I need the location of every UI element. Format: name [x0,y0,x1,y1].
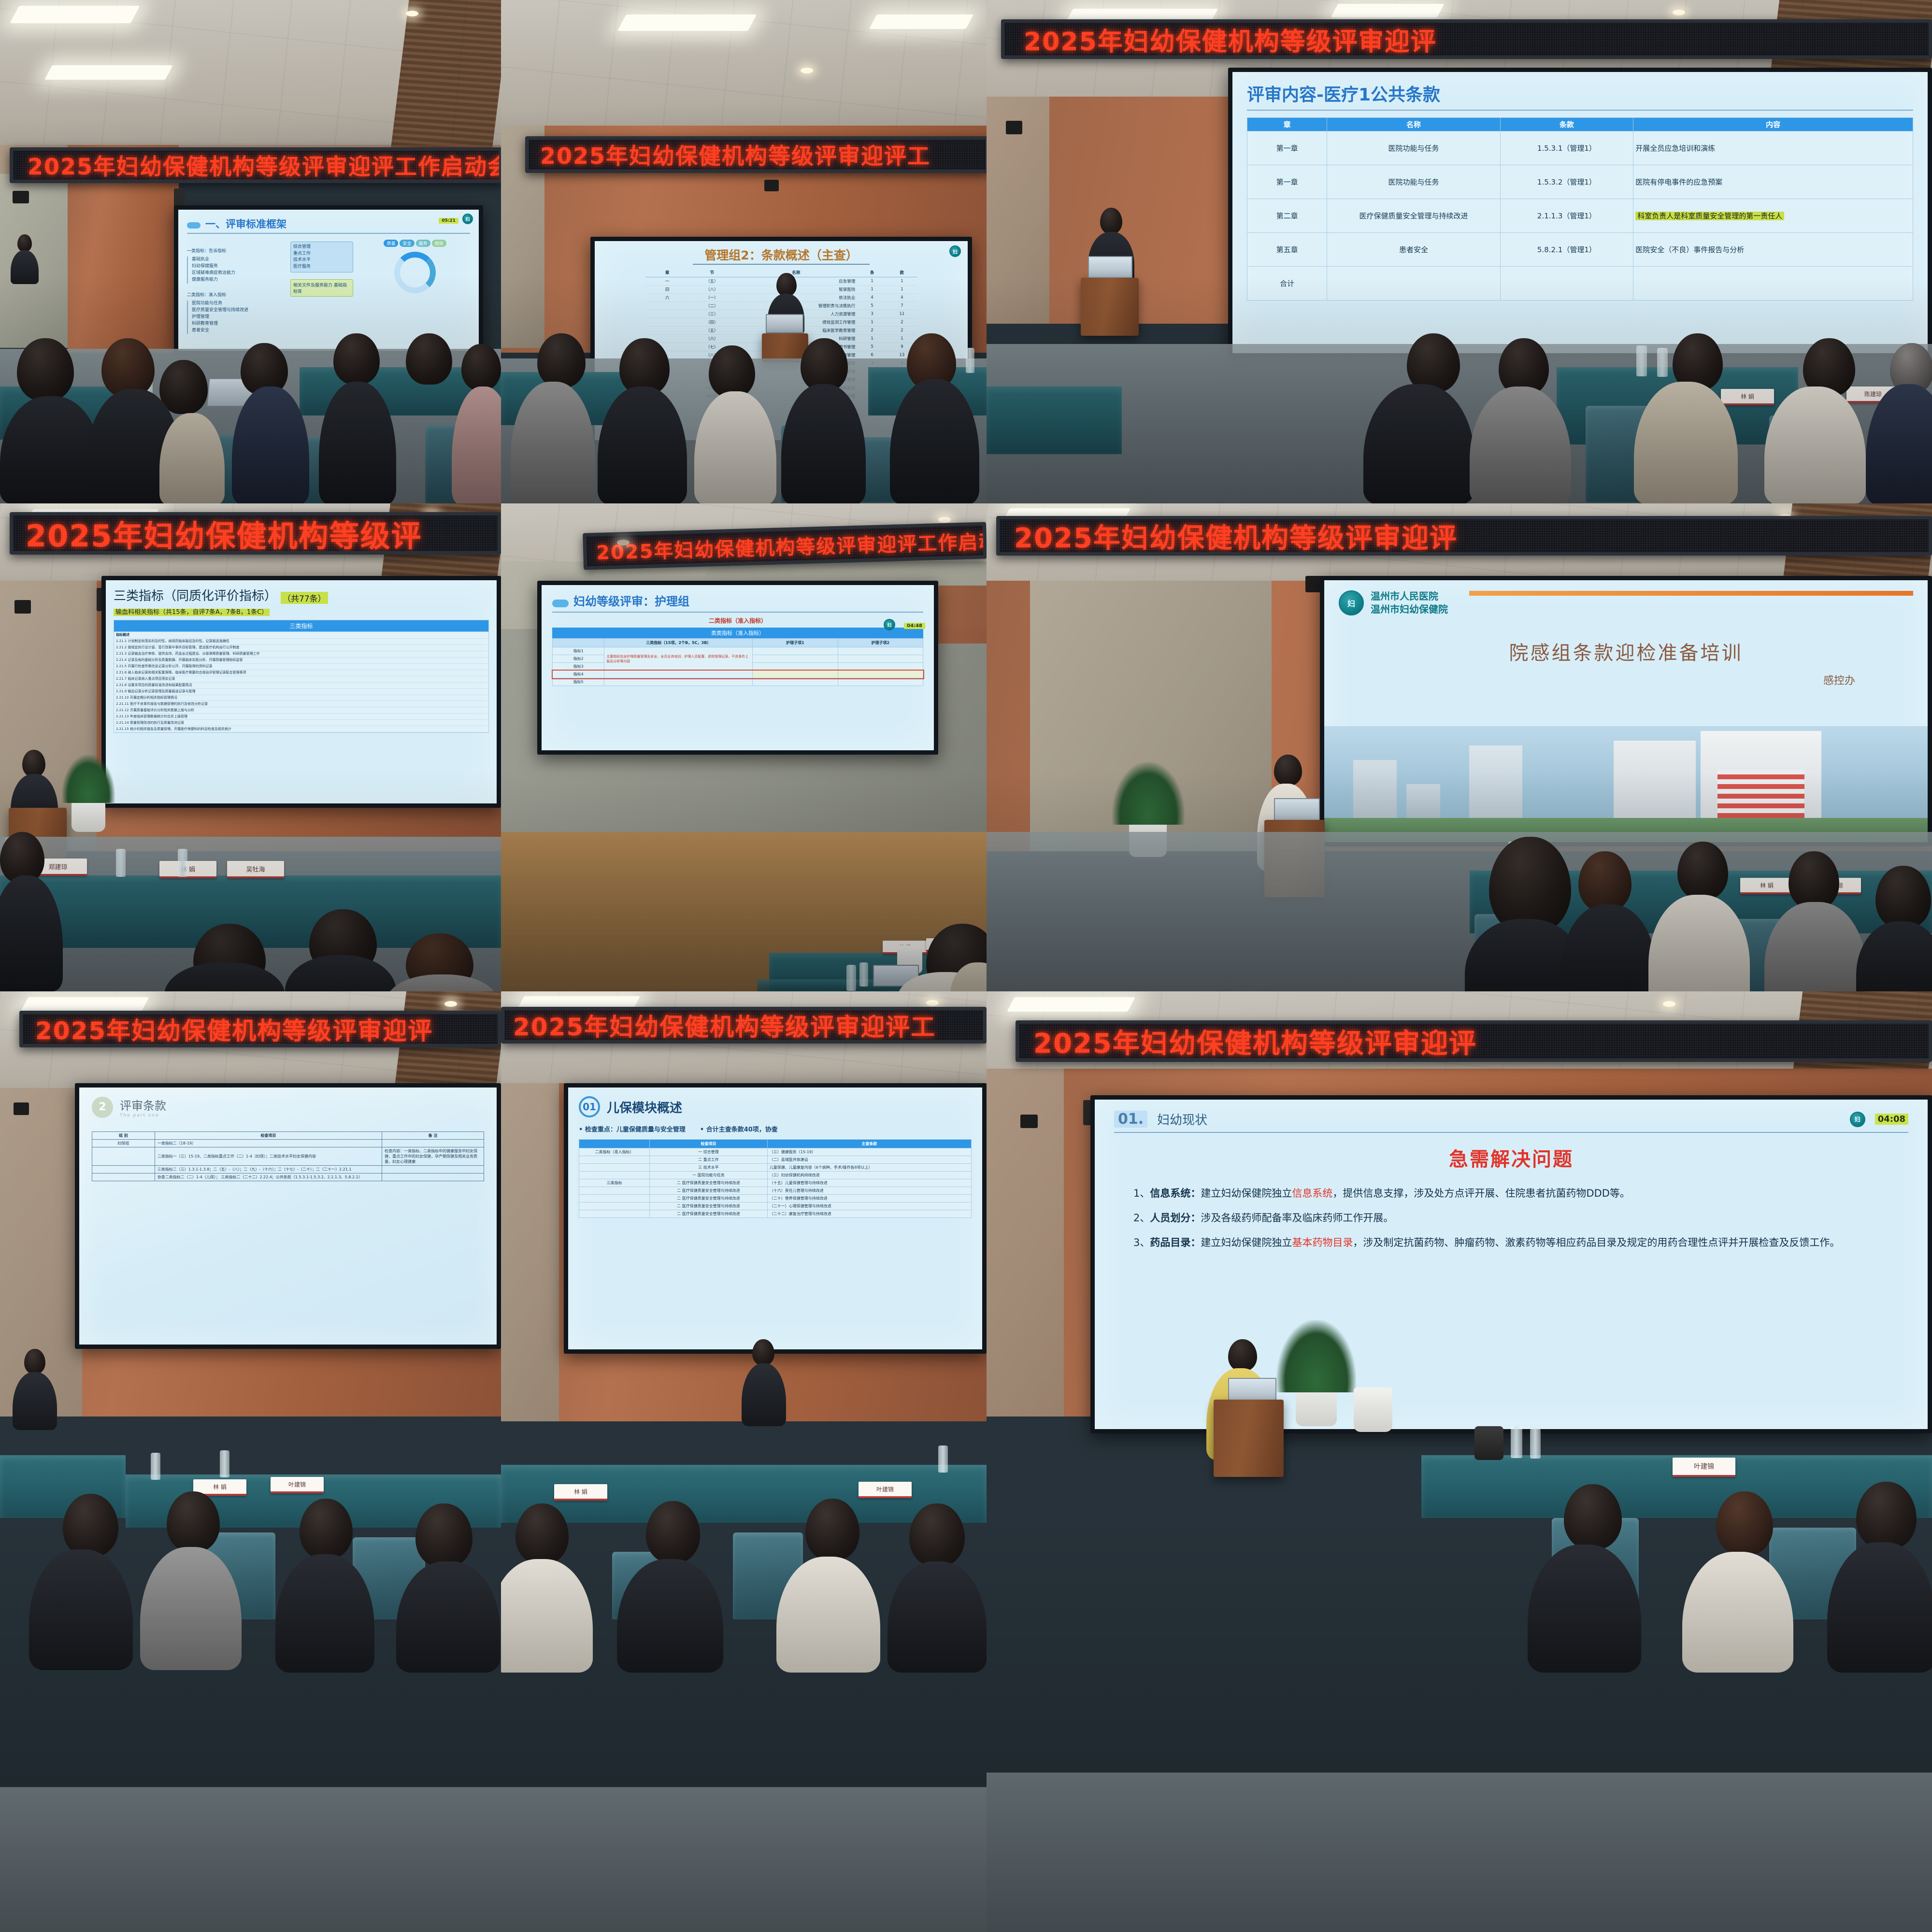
branch-label: 科研教育管理 [192,321,284,328]
slide-node-2: 二类指标：准入指标 [187,291,284,298]
table-cell: 5 [857,343,887,351]
audience-head [300,1499,353,1559]
col-header: 组 别 [92,1132,155,1140]
downlight [938,517,951,523]
audience-head [1564,1484,1622,1549]
table-cell: （一） [689,294,735,302]
col-header: 护理子项2 [838,639,923,647]
item-text: 建立妇幼保健院独立 [1201,1237,1292,1248]
item-index: 1、 [1133,1188,1150,1199]
downlight [617,540,630,545]
nameplate: 叶建锦 [1673,1458,1735,1477]
table-row: 指标1主要指标包含护理质量管理及安全、全员业务培训、护理人员配置、绩效管理记录、… [553,647,923,655]
branch-label: 技术水平 [293,257,350,264]
table-cell: 5.8.2.1（管理1） [1500,233,1633,267]
branch-label: 医院功能与任务 [192,301,284,307]
water-bottle [966,348,974,373]
presenter-laptop [766,314,803,333]
table-cell: 11 [887,310,917,318]
col-header: 内容 [1633,118,1913,131]
presenter-laptop [1088,256,1132,278]
wheel-label: 质量 [384,240,398,247]
ceiling-light [869,14,973,29]
table-cell [579,1172,650,1179]
led-banner: 2025年妇幼保健机构等级评 [10,512,501,555]
water-bottle [846,965,856,991]
projection-screen: 妇 温州市人民医院 温州市妇幼保健院 院感组条款迎检准备培训 感控办 [1320,576,1932,846]
table-cell: 医院有停电事件的应急预案 [1633,165,1913,199]
slide-content: 一、评审标准框架 一类指标：告诉指标 基础执业 妇幼保健服务 区域疑难病症救治能… [178,210,479,351]
water-bottle [1636,345,1647,376]
table-row: 第一章医院功能与任务1.5.3.2（管理1）医院有停电事件的应急预案 [1247,165,1913,199]
slide-content: 评审内容-医疗1公共条款 章 名称 条款 内容 第一章医院功能与任务1.5.3.… [1232,72,1928,353]
branch-label: 医疗服务 [293,264,350,271]
table-cell: 二 医疗保健质量安全管理与持续改进 [650,1202,768,1210]
col-header: 主查条款 [767,1140,971,1148]
led-banner: 2025年妇幼保健机构等级评审迎评 [19,1011,501,1047]
hospital-logo-icon: 妇 [949,245,961,257]
audience-head [333,333,380,385]
table-cell: 六 [645,294,689,302]
branch-label: 患者安全 [192,328,284,334]
list-item: 2.21.11 医疗不良事件报告与数据管理的执行及修改分析记录 [114,701,488,707]
slide-photo-background [1324,726,1928,842]
list-item: 2.21.4 记录及格的基础分析及质量数据、开展临床实践分析、开展质量管理指标监… [114,658,488,664]
table-cell [92,1174,155,1181]
presenter-body [11,250,39,284]
camera-icon [764,180,779,191]
table-cell: 2 [887,318,917,327]
table-cell [1327,267,1500,301]
col-header: 章 [645,268,689,277]
camera-icon [1020,1115,1038,1128]
table-cell: 合计 [1247,267,1327,301]
led-banner-text: 2025年妇幼保健机构等级评审迎评 [1000,516,1458,556]
branch-label: 医疗质量安全管理与持续改进 [192,307,284,314]
audience-head [167,1491,220,1552]
slide-title: 儿保模块概述 [607,1098,682,1116]
table-cell [645,318,689,327]
led-banner-text: 2025年妇幼保健机构等级评审迎评工 [504,1008,936,1043]
table-cell: （十六）责任儿管理与持续改进 [767,1187,971,1195]
led-banner-text: 2025年妇幼保健机构等级评 [13,512,422,555]
presenter-head [752,1339,774,1365]
col-header: 条款 [1500,118,1633,131]
slide-title: 一、评审标准框架 [205,218,286,230]
slide-subtitle: 感控办 [1339,672,1913,687]
table-cell: 1.5.3.1（管理1） [1500,131,1633,165]
table-cell: 二 医疗保健质量安全管理与持续改进 [650,1195,768,1202]
led-banner: 2025年妇幼保健机构等级评审迎评 [1001,19,1932,59]
table-cell: 指标2 [553,655,604,663]
table-cell: 患者安全 [1327,233,1500,267]
table-row: 二 医疗保健质量安全管理与持续改进（十六）责任儿管理与持续改进 [579,1187,972,1195]
podium [1081,278,1139,336]
photo-panel-middle-right[interactable]: 2025年妇幼保健机构等级评审迎评 妇 温州市人民医院 温州市妇幼保健院 院感组… [987,503,1932,991]
table-cell: 第一章 [1247,165,1327,199]
audience-table [987,386,1122,454]
table-row: 三 技术水平儿童保健、儿童康复内容（6个病种、手术/操作各8项以上） [579,1164,972,1172]
table-cell [645,302,689,310]
nameplate: 叶建锦 [271,1477,324,1493]
table-cell: 1.5.3.2（管理1） [1500,165,1633,199]
table-cell: 指标3 [553,663,604,671]
nursing-table: 三类指标（15项，2个B，5C，3B） 护理子项1 护理子项2 指标1主要指标包… [552,638,923,686]
table-cell: 三类指标 [579,1179,650,1187]
audience-head [406,333,452,385]
plant-leaves [1112,762,1185,825]
projection-screen: 妇幼等级评审：护理组 二类指标（准入指标） 类类指标（准入指标） 三类指标（15… [537,581,938,755]
slide-lower-box: 相关文件及服务能力 基础指标库 [290,279,353,297]
table-cell: 医院功能与任务 [1327,165,1500,199]
table-cell [838,647,923,655]
plant-leaves [62,755,115,803]
table-cell: 2 [887,327,917,335]
audience-head [1856,1482,1917,1549]
floor [501,1787,987,1932]
table-cell: 协查二类指标二（二）1-4（儿保）； 三类指标二（二十二）2.22.4；公共条款… [155,1174,382,1181]
podium [1214,1400,1284,1477]
presenter-head [1274,755,1302,786]
presenter-head [24,1349,45,1374]
photo-panel-middle-center[interactable]: 2025年妇幼保健机构等级评审迎评工作启动会 妇幼等级评审：护理组 二类指标（准… [501,503,987,991]
table-cell: （六） [689,335,735,343]
presenter-head [17,234,32,252]
nameplate: 林 娟 [159,861,216,878]
audience-head [17,338,74,401]
logo-line-2: 温州市妇幼保健院 [1371,603,1448,616]
projection-screen: 评审内容-医疗1公共条款 章 名称 条款 内容 第一章医院功能与任务1.5.3.… [1228,68,1932,358]
slide-bullet: • 合计主查条款40项，协查 [700,1124,778,1133]
table-cell: 1 [857,335,887,343]
table-row: 三类指标二（三）1.3.1-1.3.8；二（五）-（八）；二（九）-（十六）；二… [92,1166,484,1174]
nameplate: 吴牡海 [227,861,284,878]
table-cell: 一 综合管理 [650,1148,768,1156]
table-cell [579,1187,650,1195]
branch-label: 区域疑难病症救治能力 [192,270,284,277]
list-item: 2.21.3 记录输血治疗审核、提供支持，药品全过程建设、分级保障质量管理、科研… [114,651,488,658]
photo-panel-middle-left[interactable]: 2025年妇幼保健机构等级评 三类指标（同质化评价指标） （共77条） 输血科相… [0,503,501,991]
photo-panel-top-center[interactable]: 2025年妇幼保健机构等级评审迎评工 管理组2：条款概述（主查） 章 节 名称 … [501,0,987,503]
nameplate: 林 娟 [1721,389,1774,405]
timer-value: 04:48 [904,623,925,629]
slide-content: 2 评审条款 The part one 组 别 检查项目 备 注 妇保组一类指标… [79,1088,497,1345]
table-header-row: 章 名称 条款 内容 [1247,118,1913,131]
table-cell [753,647,838,655]
table-row: 协查二类指标二（二）1-4（儿保）； 三类指标二（二十二）2.22.4；公共条款… [92,1174,484,1181]
table-cell: 儿童保健、儿童康复内容（6个病种、手术/操作各8项以上） [767,1164,971,1172]
hospital-logo-icon: 妇 [1339,590,1364,615]
table-row: 二 医疗保健质量安全管理与持续改进（二十一）心理保健管理与持续改进 [579,1202,972,1210]
table-cell: 二 医疗保健质量安全管理与持续改进 [650,1210,768,1218]
item-text: ，涉及制定抗菌药物、肿瘤药物、激素药物等相应药品目录及规定的用药合理性点评并开展… [1353,1237,1840,1248]
table-cell: 三 技术水平 [650,1164,768,1172]
table-cell [753,663,838,671]
table-cell: 开展全员应急培训和演练 [1633,131,1913,165]
water-bottle [1511,1426,1522,1458]
table-cell: 5 [857,302,887,310]
list-item: 2.21.8 设置本项目的质量标准改进和结果配置情况 [114,683,488,689]
water-bottle [220,1450,229,1477]
led-banner-text: 2025年妇幼保健机构等级评审迎评工 [529,139,930,171]
presenter-head [1228,1339,1257,1371]
audience-body [887,1561,987,1673]
photo-panel-bottom-right[interactable]: 2025年妇幼保健机构等级评审迎评 01. 妇幼现状 妇 04:08 急需解决问… [987,991,1932,1932]
table-cell: 第二章 [1247,199,1327,233]
table-cell: （四） [689,318,735,327]
table-cell [753,678,838,686]
led-banner: 2025年妇幼保健机构等级评审迎评工 [525,136,987,173]
slide-subtitle: 输血科相关指标（共15条，自评7条A，7条B，1条C） [114,609,270,616]
led-banner-text: 2025年妇幼保健机构等级评审迎评 [1004,21,1437,57]
photo-panel-top-right[interactable]: 2025年妇幼保健机构等级评审迎评 评审内容-医疗1公共条款 章 名称 条款 内… [987,0,1932,503]
audience-head [461,344,501,390]
table-cell: 科室负责人是科室质量安全管理的第一责任人 [1633,199,1913,233]
led-banner-text: 2025年妇幼保健机构等级评审迎评 [1019,1022,1477,1061]
col-header: 章 [1247,118,1327,131]
downlight [1663,1001,1675,1007]
projection-screen: 01 儿保模块概述 • 检查重点：儿童保健质量与安全管理 • 合计主查条款40项… [564,1083,987,1354]
donut-graphic [394,252,436,293]
logo-line-1: 温州市人民医院 [1371,590,1448,603]
water-bottle [938,1445,948,1473]
photo-collage-grid: 2025年妇幼保健机构等级评审迎评工作启动会暨专题培 一、评审标准框架 一类指标… [0,0,1932,1932]
water-bottle [151,1453,160,1480]
slide-content: 三类指标（同质化评价指标） （共77条） 输血科相关指标（共15条，自评7条A，… [106,580,497,803]
col-header: 检查项目 [650,1140,768,1148]
audience-body [29,1549,133,1670]
col-header: 备 注 [382,1132,484,1140]
item-label: 人员划分： [1150,1212,1201,1224]
table-cell [604,671,753,678]
table-cell: 指标1 [553,647,604,655]
table-top-header: 类类指标（准入指标） [552,628,923,638]
audience-head [709,345,755,398]
led-banner-text: 2025年妇幼保健机构等级评审迎评工作启动会 [586,525,987,565]
section-number-badge: 2 [92,1097,113,1118]
audience-head [101,338,155,397]
table-cell: 三类指标二（三）1.3.1-1.3.8；二（五）-（八）；二（九）-（十六）；二… [155,1166,382,1174]
projection-screen: 一、评审标准框架 一类指标：告诉指标 基础执业 妇幼保健服务 区域疑难病症救治能… [174,205,483,355]
audience-body [501,1559,593,1673]
item-highlight: 基本药物目录 [1292,1237,1353,1248]
table-cell [645,310,689,318]
item-text: 涉及各级药师配备率及临床药师工作开展。 [1201,1212,1393,1224]
table-cell: 1 [857,318,887,327]
slide-title-badge: （共77条） [281,592,328,604]
ceiling-light [617,14,757,31]
wheel-label: 绩效 [432,240,446,247]
camera-icon [13,191,29,203]
table-row: 二类指标（准入指标）一 综合管理（三）健康服务（15-19） [579,1148,972,1156]
table-row: 一 医院功能与任务（三）妇幼保健机构持续改进 [579,1172,972,1179]
plant-leaves [1276,1320,1356,1392]
section-number-badge: 01 [579,1096,600,1117]
wheel-label: 服务 [416,240,430,247]
table-cell: 一 [645,277,689,286]
audience-head [1875,866,1931,929]
slide-node-1: 一类指标：告诉指标 [187,247,284,254]
table-cell [1633,267,1913,301]
col-header: 护理子项1 [753,639,838,647]
table-cell [753,671,838,678]
presenter-head [776,273,797,296]
audience-head [1677,842,1728,900]
table-row: 合计 [1247,267,1913,301]
col-header: 检查项目 [155,1132,382,1140]
timer-chip: 04:48 [904,620,925,629]
branch-label: 重点工作 [293,251,350,258]
led-banner-text: 2025年妇幼保健机构等级评审迎评 [23,1012,433,1046]
col-header: 款 [887,268,917,277]
list-item: 2.21.12 开展质量基础评价分析相关数据上报与分析 [114,707,488,714]
nameplate: 叶建锦 [859,1482,912,1498]
table-cell [645,327,689,335]
table-cell [579,1156,650,1164]
table-cell [579,1210,650,1218]
led-banner: 2025年妇幼保健机构等级评审迎评 [1016,1020,1932,1062]
branch-label: 综合管理 [293,244,350,251]
review-clause-table: 组 别 检查项目 备 注 妇保组一类指标二（18-19）二类指标一（三）15-1… [92,1131,484,1181]
side-wall [501,1083,559,1421]
slide-headline: 急需解决问题 [1114,1144,1908,1172]
item-highlight: 信息系统 [1292,1188,1332,1199]
table-cell: 一类指标二（18-19） [155,1140,382,1147]
table-cell: （二） [689,302,735,310]
audience-head [515,1503,569,1564]
audience-head [801,338,848,391]
table-cell [838,655,923,663]
table-cell: 医院安全（不良）事件报告与分析 [1633,233,1913,267]
slide-content: 01 儿保模块概述 • 检查重点：儿童保健质量与安全管理 • 合计主查条款40项… [568,1088,982,1349]
audience-head [646,1501,700,1563]
list-item: 2.21.5 开展行检查所需信息记录分析公开、开展取得的资料记录 [114,664,488,670]
list-item: 2.21.2 按规定执行设计留、签行改案中事件目标管理，建设医疗机构自行公开制度 [114,645,488,651]
ceiling-light [10,6,140,23]
item-index: 3、 [1133,1237,1150,1248]
table-cell: （三）妇幼保健机构持续改进 [767,1172,971,1179]
table-row: 二类指标一（三）15-19、二类指标重点工作（二）1-4（妇保）；二类技术水平妇… [92,1147,484,1166]
plant-pot [1354,1388,1392,1432]
table-cell: 二 医疗保健质量安全管理与持续改进 [650,1187,768,1195]
table-cell [838,671,923,678]
table-cell [579,1195,650,1202]
col-header: 三类指标（15项，2个B，5C，3B） [604,639,753,647]
table-cell: （三） [689,310,735,318]
table-cell: 4 [857,294,887,302]
table-cell: 二类指标一（三）15-19、二类指标重点工作（二）1-4（妇保）；二类技术水平妇… [155,1147,382,1166]
item-label: 药品目录： [1150,1237,1201,1248]
table-cell: 妇保组 [92,1140,155,1147]
table-row: 二 医疗保健质量安全管理与持续改进（二十）营养保健管理与持续改进 [579,1195,972,1202]
table-cell: 检查内容：一类指标、二类指标中的健康服务中妇女保健，重点工作中的妇女保健，孕产期… [382,1147,484,1166]
table-cell: 主要指标包含护理质量管理及安全、全员业务培训、护理人员配置、绩效管理记录、不良事… [604,647,753,671]
table-header-row: 组 别 检查项目 备 注 [92,1132,484,1140]
table-cell: 1 [857,277,887,286]
table-cell: （八） [689,286,735,294]
table-row: 指标5 [553,678,923,686]
table-cell [382,1140,484,1147]
downlight [406,11,418,16]
table-row: 第五章患者安全5.8.2.1（管理1）医院安全（不良）事件报告与分析 [1247,233,1913,267]
table-row: 二 医疗保健质量安全管理与持续改进（二十二）康复治疗管理与持续改进 [579,1210,972,1218]
branch-label: 基础执业 [192,257,284,263]
floor [0,1787,501,1932]
table-row: 二 重点工作（二）县域医共体建设 [579,1156,972,1164]
table-cell: 指标4 [553,671,604,678]
camera-icon [1006,121,1022,134]
water-bottle [1657,348,1668,377]
table-cell [753,655,838,663]
presenter-head [22,750,45,777]
table-row: 妇保组一类指标二（18-19） [92,1140,484,1147]
water-bottle [178,849,187,877]
projection-screen: 三类指标（同质化评价指标） （共77条） 输血科相关指标（共15条，自评7条A，… [101,576,501,808]
table-cell: （十五）儿童保健管理与持续改进 [767,1179,971,1187]
section-number-badge: 01. [1114,1111,1147,1128]
table-header-row: 检查项目 主查条款 [579,1140,972,1148]
hospital-logo-icon: 妇 [462,214,473,224]
audience-head [805,1499,859,1560]
audience-head [1789,851,1839,909]
table-cell [579,1164,650,1172]
table-cell [838,663,923,671]
table-cell: 1 [887,286,917,294]
hospital-logo-icon: 妇 [1850,1112,1865,1127]
table-cell [838,678,923,686]
slide-badge-label: 二类指标（准入指标） [552,616,923,625]
audience-head [159,360,208,414]
table-cell [604,678,753,686]
list-item: 2.21.10 开展定期分析相关指标管理情况 [114,695,488,701]
led-banner: 2025年妇幼保健机构等级评审迎评工作启动会暨专题培 [10,147,501,183]
audience-head [1407,333,1460,392]
table-cell: 1 [857,286,887,294]
table-cell: （五） [689,277,735,286]
col-header: 名称 [1327,118,1500,131]
list-item: 2、人员划分：涉及各级药师配备率及临床药师工作开展。 [1133,1209,1889,1228]
table-row: 指标4 [553,671,923,678]
table-cell: 四 [645,286,689,294]
nameplate: 林 娟 [1740,878,1793,894]
table-header-row: 三类指标（15项，2个B，5C，3B） 护理子项1 护理子项2 [553,639,923,647]
table-cell: （五） [689,327,735,335]
branch-label: 护理管理 [192,314,284,321]
table-cell: （二十一）心理保健管理与持续改进 [767,1202,971,1210]
ceiling-light [1007,997,1135,1012]
table-cell: 7 [887,302,917,310]
slide-section-title: 妇幼现状 [1157,1110,1207,1128]
table-cell: 二类指标（准入指标） [579,1148,650,1156]
table-cell: （二十）营养保健管理与持续改进 [767,1195,971,1202]
slide-subtitle-en: The part one [120,1113,166,1118]
table-cell: 二 医疗保健质量安全管理与持续改进 [650,1179,768,1187]
led-banner-text: 2025年妇幼保健机构等级评审迎评工作启动会暨专题培 [13,149,501,181]
table-cell [92,1147,155,1166]
audience-head [1578,851,1631,912]
camera-icon [14,600,31,614]
table-cell: 1 [887,335,917,343]
photo-panel-bottom-center[interactable]: 2025年妇幼保健机构等级评审迎评工 01 儿保模块概述 • 检查重点：儿童保健… [501,991,987,1932]
slide-content: 妇 温州市人民医院 温州市妇幼保健院 院感组条款迎检准备培训 感控办 [1324,580,1928,842]
photo-panel-bottom-left[interactable]: 2025年妇幼保健机构等级评审迎评 2 评审条款 The part one 组 … [0,991,501,1932]
water-bottle [116,849,126,877]
list-item: 2.21.13 年度临床管理数据统计的合并上报管理 [114,714,488,720]
slide-title: 院感组条款迎检准备培训 [1339,637,1913,665]
table-cell: 4 [887,294,917,302]
list-item: 2.21.15 统计的相关报告及质量管理，开展医疗保健科的科目检查及相关统计 [114,726,488,732]
photo-panel-top-left[interactable]: 2025年妇幼保健机构等级评审迎评工作启动会暨专题培 一、评审标准框架 一类指标… [0,0,501,503]
